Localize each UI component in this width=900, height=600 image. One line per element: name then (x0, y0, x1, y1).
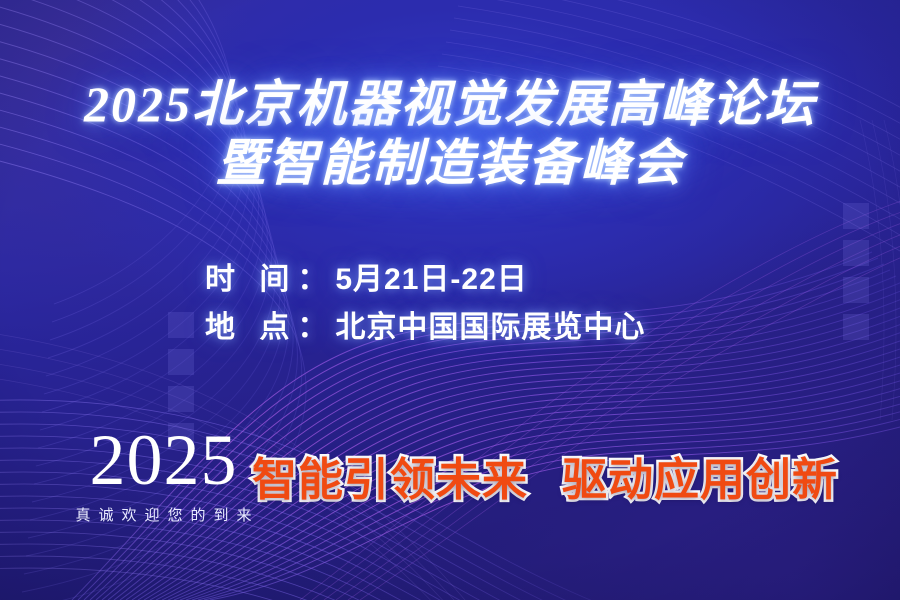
event-time-value: 5月21日-22日 (335, 263, 527, 296)
decorative-square (168, 386, 194, 412)
decorative-square (168, 349, 194, 375)
slogan-part-2: 驱动应用创新 (562, 454, 838, 505)
event-place-value: 北京中国国际展览中心 (335, 311, 645, 344)
title-line-1: 2025北京机器视觉发展高峰论坛 (0, 78, 900, 131)
event-place-label: 地 点： (205, 311, 335, 344)
event-time-row: 时 间：5月21日-22日 (205, 256, 645, 304)
title-line-2: 暨智能制造装备峰会 (0, 137, 900, 190)
event-place-row: 地 点：北京中国国际展览中心 (205, 304, 645, 352)
decorative-square (843, 203, 869, 229)
year-number: 2025 (56, 424, 271, 496)
decorative-square (843, 314, 869, 340)
decorative-squares-right (843, 203, 869, 340)
decorative-square (843, 240, 869, 266)
poster-title: 2025北京机器视觉发展高峰论坛 暨智能制造装备峰会 (0, 78, 900, 190)
decorative-square (168, 312, 194, 338)
event-time-label: 时 间： (205, 263, 335, 296)
poster-slogan: 智能引领未来驱动应用创新 (252, 443, 838, 508)
slogan-part-1: 智能引领未来 (252, 454, 528, 505)
event-info: 时 间：5月21日-22日 地 点：北京中国国际展览中心 (205, 256, 645, 352)
year-block: 2025 真诚欢迎您的到来 (56, 424, 271, 525)
welcome-text: 真诚欢迎您的到来 (56, 504, 271, 525)
event-poster: 2025北京机器视觉发展高峰论坛 暨智能制造装备峰会 时 间：5月21日-22日… (0, 0, 900, 600)
decorative-square (843, 277, 869, 303)
